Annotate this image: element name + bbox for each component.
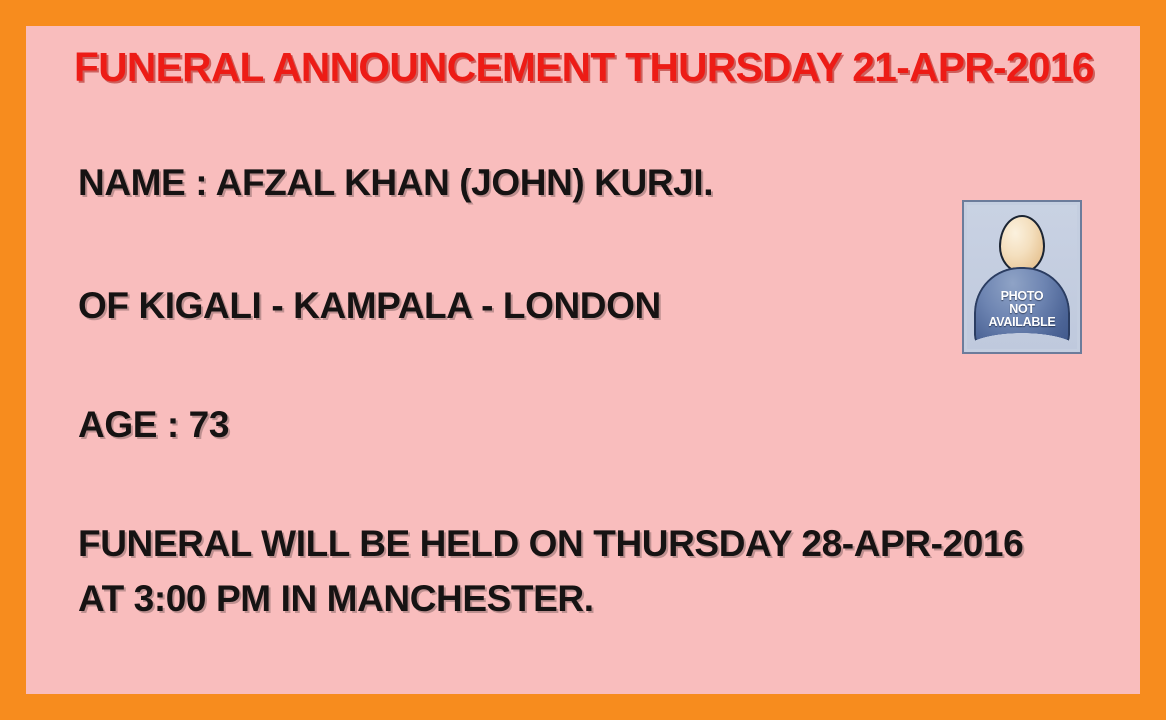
placeholder-inner-panel: PHOTO NOT AVAILABLE — [967, 205, 1077, 349]
page-title: FUNERAL ANNOUNCEMENT THURSDAY 21-APR-201… — [74, 46, 1084, 89]
funeral-details-line-2: AT 3:00 PM IN MANCHESTER. — [78, 577, 594, 621]
person-torso-icon — [974, 267, 1070, 351]
person-head-icon — [999, 215, 1045, 273]
deceased-age-line: AGE : 73 — [78, 403, 229, 447]
poster-card: FUNERAL ANNOUNCEMENT THURSDAY 21-APR-201… — [26, 26, 1140, 694]
funeral-announcement-poster: FUNERAL ANNOUNCEMENT THURSDAY 21-APR-201… — [0, 0, 1166, 720]
deceased-name-line: NAME : AFZAL KHAN (JOHN) KURJI. — [78, 161, 713, 205]
deceased-origin-line: OF KIGALI - KAMPALA - LONDON — [78, 284, 661, 328]
photo-not-available-placeholder: PHOTO NOT AVAILABLE — [962, 200, 1082, 354]
funeral-details-line-1: FUNERAL WILL BE HELD ON THURSDAY 28-APR-… — [78, 522, 1023, 566]
